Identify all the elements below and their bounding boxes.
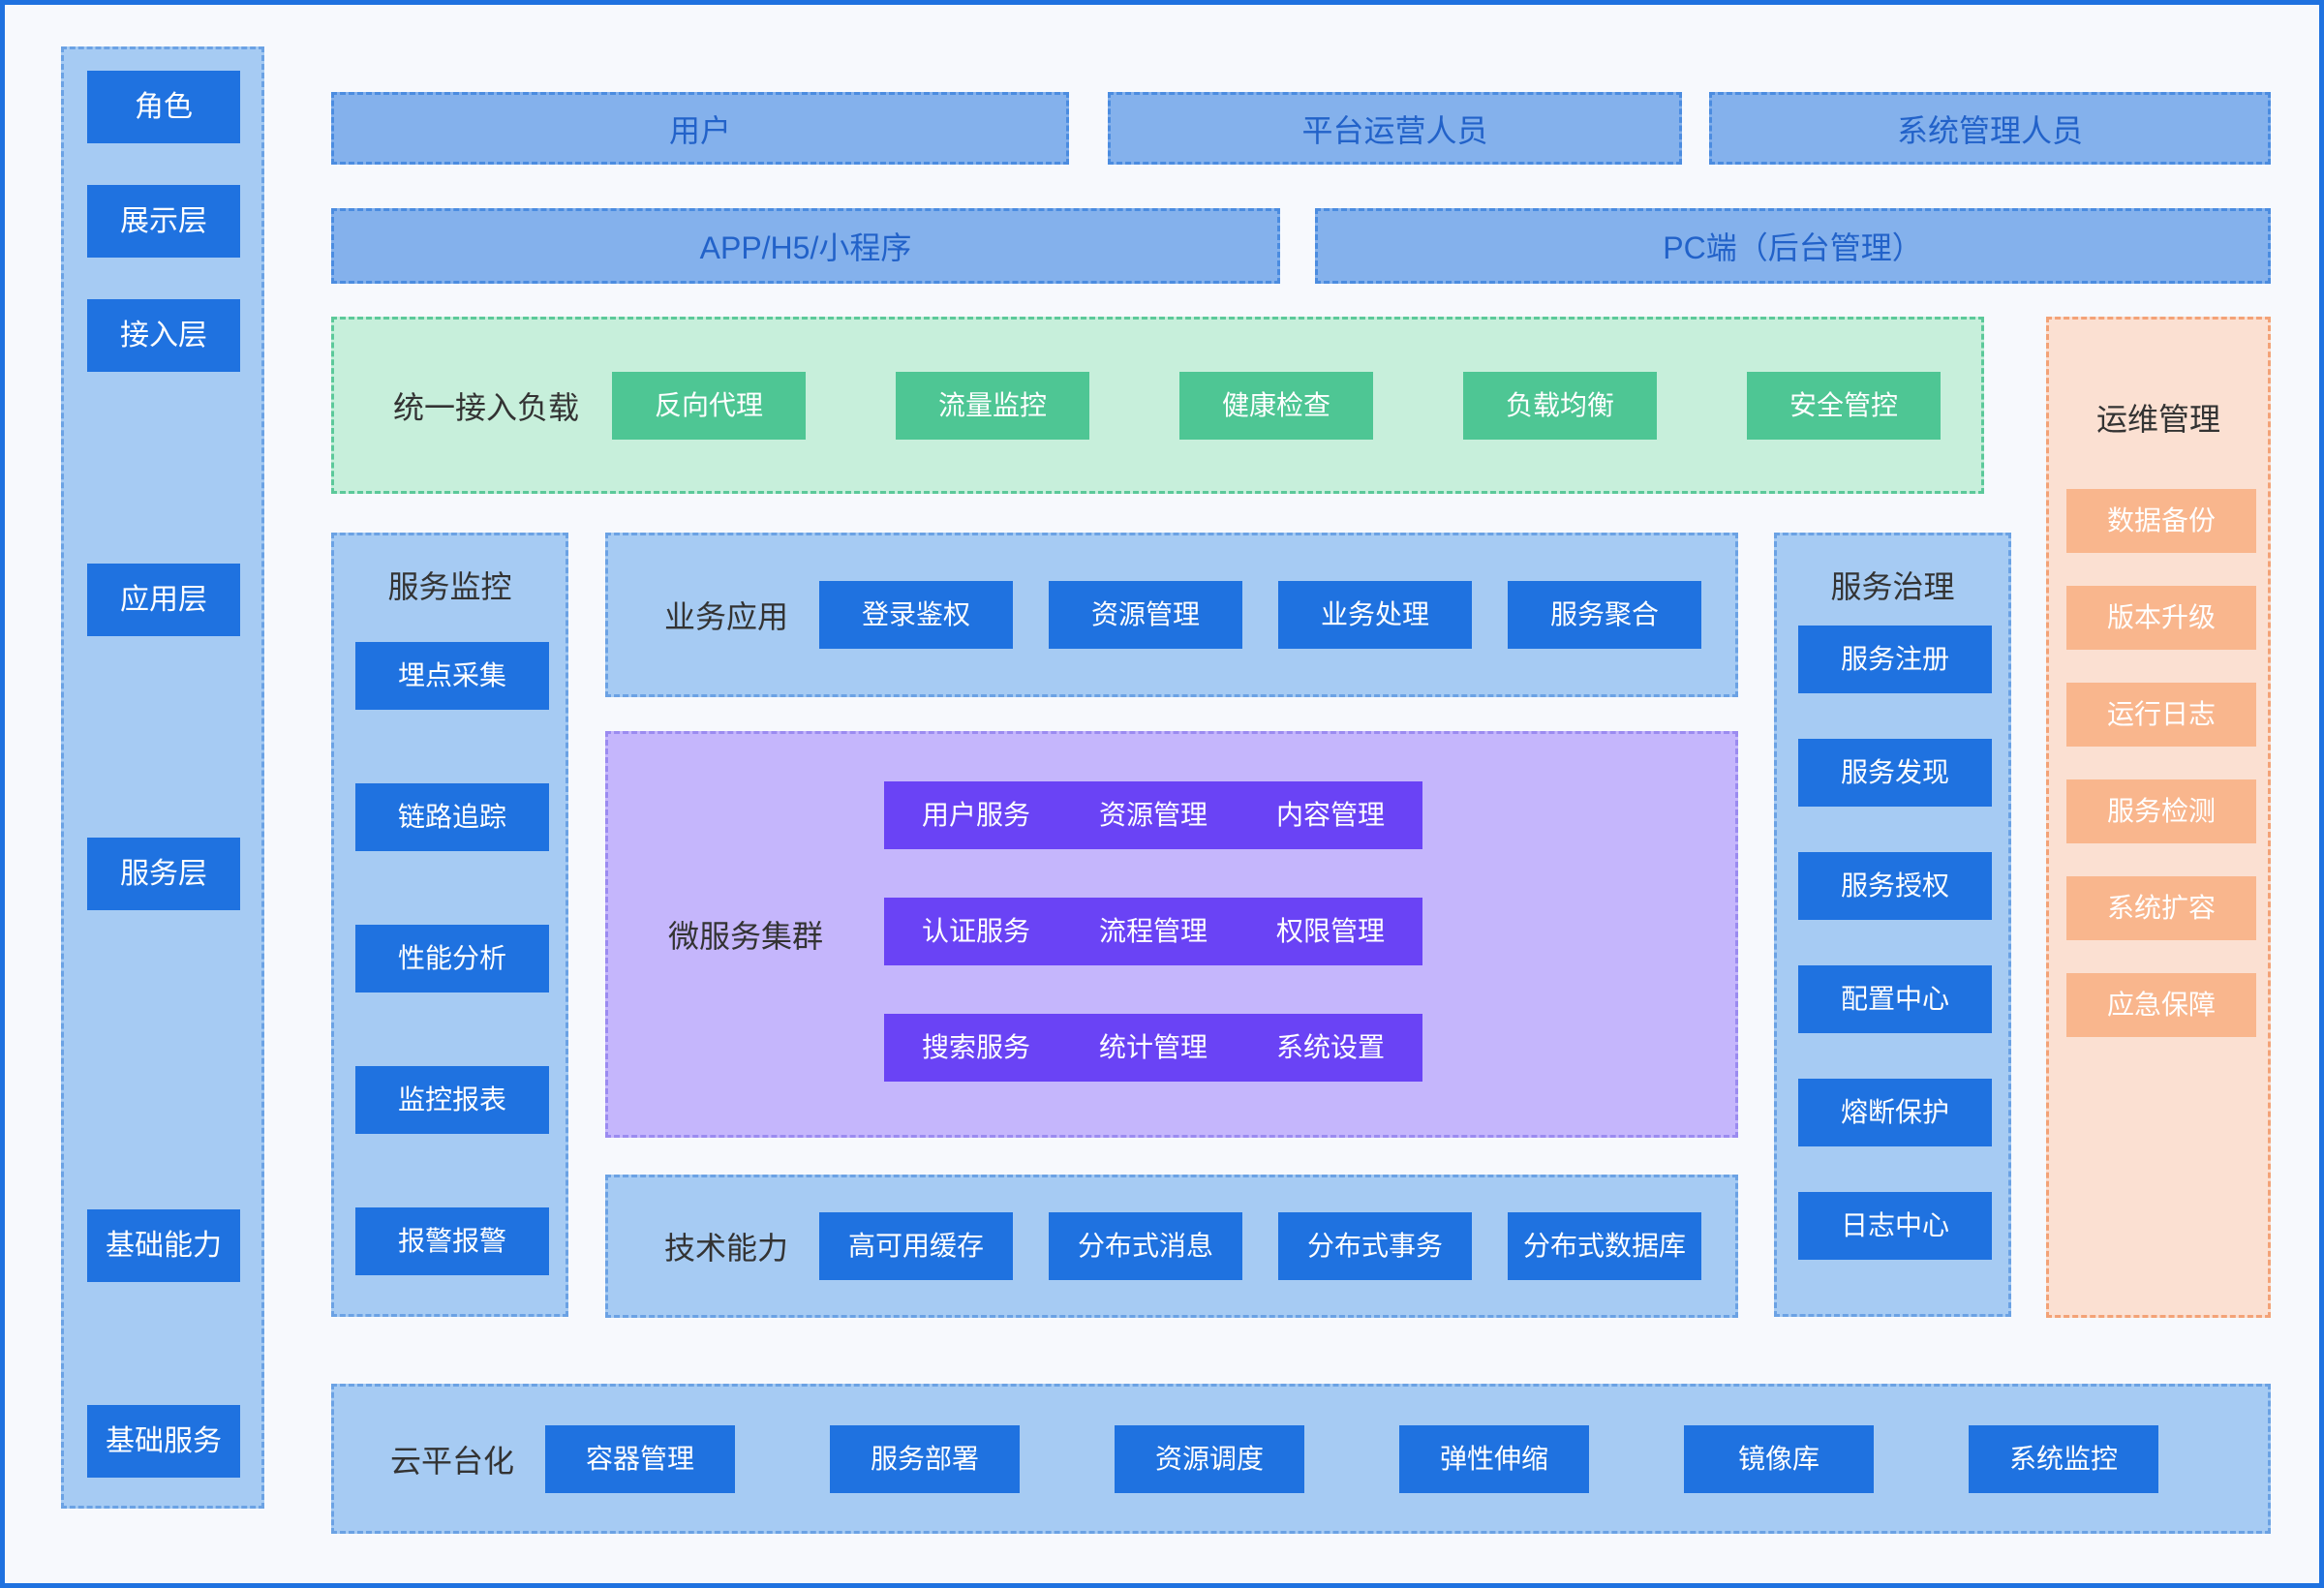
cloud-platform-panel: 云平台化 容器管理 服务部署 资源调度 弹性伸缩 镜像库 系统监控 — [331, 1384, 2271, 1534]
ops-box-emergency-support[interactable]: 应急保障 — [2066, 973, 2256, 1037]
access-box-traffic-monitor[interactable]: 流量监控 — [896, 372, 1089, 440]
monitor-box-alarm[interactable]: 报警报警 — [355, 1207, 549, 1275]
tech-box-dist-txn[interactable]: 分布式事务 — [1278, 1212, 1472, 1280]
governance-box-circuit-breaker[interactable]: 熔断保护 — [1798, 1079, 1992, 1146]
micro-box-user-service[interactable]: 用户服务 — [884, 781, 1068, 849]
cloud-box-resource-sched[interactable]: 资源调度 — [1115, 1425, 1304, 1493]
architecture-diagram-canvas: 角色 展示层 接入层 应用层 服务层 基础能力 基础服务 用户 平台运营人员 系… — [0, 0, 2324, 1588]
layer-chip-access[interactable]: 接入层 — [87, 299, 240, 372]
layer-chip-base-service[interactable]: 基础服务 — [87, 1405, 240, 1478]
microservice-cluster-label: 微服务集群 — [649, 912, 842, 957]
micro-box-stats-mgmt[interactable]: 统计管理 — [1061, 1014, 1245, 1082]
governance-box-config-center[interactable]: 配置中心 — [1798, 965, 1992, 1033]
monitor-box-perf-analysis[interactable]: 性能分析 — [355, 925, 549, 992]
bizapp-box-biz-process[interactable]: 业务处理 — [1278, 581, 1472, 649]
ops-box-data-backup[interactable]: 数据备份 — [2066, 489, 2256, 553]
cloud-box-service-deploy[interactable]: 服务部署 — [830, 1425, 1020, 1493]
access-box-health-check[interactable]: 健康检查 — [1179, 372, 1373, 440]
monitor-box-tracking-collect[interactable]: 埋点采集 — [355, 642, 549, 710]
access-layer-panel: 统一接入负载 反向代理 流量监控 健康检查 负载均衡 安全管控 — [331, 317, 1984, 494]
cloud-box-system-monitor[interactable]: 系统监控 — [1969, 1425, 2158, 1493]
service-governance-label: 服务治理 — [1777, 563, 2008, 607]
technical-ability-label: 技术能力 — [649, 1224, 804, 1268]
service-governance-panel: 服务治理 服务注册 服务发现 服务授权 配置中心 熔断保护 日志中心 — [1774, 533, 2011, 1317]
micro-box-process-mgmt[interactable]: 流程管理 — [1061, 898, 1245, 965]
tech-box-dist-message[interactable]: 分布式消息 — [1049, 1212, 1242, 1280]
access-box-reverse-proxy[interactable]: 反向代理 — [612, 372, 806, 440]
ops-box-system-scale[interactable]: 系统扩容 — [2066, 876, 2256, 940]
ops-management-label: 运维管理 — [2049, 395, 2268, 440]
access-layer-label: 统一接入负载 — [375, 383, 597, 428]
cloud-box-container-mgmt[interactable]: 容器管理 — [545, 1425, 735, 1493]
bizapp-box-login-auth[interactable]: 登录鉴权 — [819, 581, 1013, 649]
tech-box-dist-db[interactable]: 分布式数据库 — [1508, 1212, 1701, 1280]
layer-chip-application[interactable]: 应用层 — [87, 564, 240, 636]
presentation-box-app[interactable]: APP/H5/小程序 — [331, 208, 1280, 284]
ops-box-runtime-log[interactable]: 运行日志 — [2066, 683, 2256, 747]
cloud-box-image-registry[interactable]: 镜像库 — [1684, 1425, 1874, 1493]
access-box-load-balance[interactable]: 负载均衡 — [1463, 372, 1657, 440]
bizapp-box-service-agg[interactable]: 服务聚合 — [1508, 581, 1701, 649]
tech-box-ha-cache[interactable]: 高可用缓存 — [819, 1212, 1013, 1280]
technical-ability-panel: 技术能力 高可用缓存 分布式消息 分布式事务 分布式数据库 — [605, 1175, 1738, 1318]
layer-chip-role[interactable]: 角色 — [87, 71, 240, 143]
governance-box-service-register[interactable]: 服务注册 — [1798, 626, 1992, 693]
micro-box-system-setting[interactable]: 系统设置 — [1238, 1014, 1422, 1082]
micro-box-auth-service[interactable]: 认证服务 — [884, 898, 1068, 965]
ops-box-version-upgrade[interactable]: 版本升级 — [2066, 586, 2256, 650]
micro-box-search-service[interactable]: 搜索服务 — [884, 1014, 1068, 1082]
service-monitor-panel: 服务监控 埋点采集 链路追踪 性能分析 监控报表 报警报警 — [331, 533, 568, 1317]
ops-management-panel: 运维管理 数据备份 版本升级 运行日志 服务检测 系统扩容 应急保障 — [2046, 317, 2271, 1318]
governance-box-service-discovery[interactable]: 服务发现 — [1798, 739, 1992, 807]
cloud-box-elastic-scaling[interactable]: 弹性伸缩 — [1399, 1425, 1589, 1493]
role-box-user[interactable]: 用户 — [331, 92, 1069, 165]
role-box-operator[interactable]: 平台运营人员 — [1108, 92, 1682, 165]
service-monitor-label: 服务监控 — [334, 563, 566, 607]
access-box-security[interactable]: 安全管控 — [1747, 372, 1941, 440]
layer-rail-panel: 角色 展示层 接入层 应用层 服务层 基础能力 基础服务 — [61, 46, 264, 1509]
business-application-label: 业务应用 — [649, 593, 804, 637]
business-application-panel: 业务应用 登录鉴权 资源管理 业务处理 服务聚合 — [605, 533, 1738, 697]
role-box-admin[interactable]: 系统管理人员 — [1709, 92, 2271, 165]
ops-box-service-detect[interactable]: 服务检测 — [2066, 779, 2256, 843]
micro-box-privilege-mgmt[interactable]: 权限管理 — [1238, 898, 1422, 965]
micro-box-resource-mgmt[interactable]: 资源管理 — [1061, 781, 1245, 849]
presentation-box-pc[interactable]: PC端（后台管理） — [1315, 208, 2271, 284]
layer-chip-presentation[interactable]: 展示层 — [87, 185, 240, 258]
governance-box-log-center[interactable]: 日志中心 — [1798, 1192, 1992, 1260]
layer-chip-service[interactable]: 服务层 — [87, 838, 240, 910]
governance-box-service-authorize[interactable]: 服务授权 — [1798, 852, 1992, 920]
layer-chip-base-ability[interactable]: 基础能力 — [87, 1209, 240, 1282]
monitor-box-link-trace[interactable]: 链路追踪 — [355, 783, 549, 851]
microservice-cluster-panel: 微服务集群 用户服务 资源管理 内容管理 认证服务 流程管理 权限管理 搜索服务… — [605, 731, 1738, 1138]
cloud-platform-label: 云平台化 — [375, 1437, 530, 1481]
monitor-box-monitor-report[interactable]: 监控报表 — [355, 1066, 549, 1134]
micro-box-content-mgmt[interactable]: 内容管理 — [1238, 781, 1422, 849]
bizapp-box-resource-mgmt[interactable]: 资源管理 — [1049, 581, 1242, 649]
